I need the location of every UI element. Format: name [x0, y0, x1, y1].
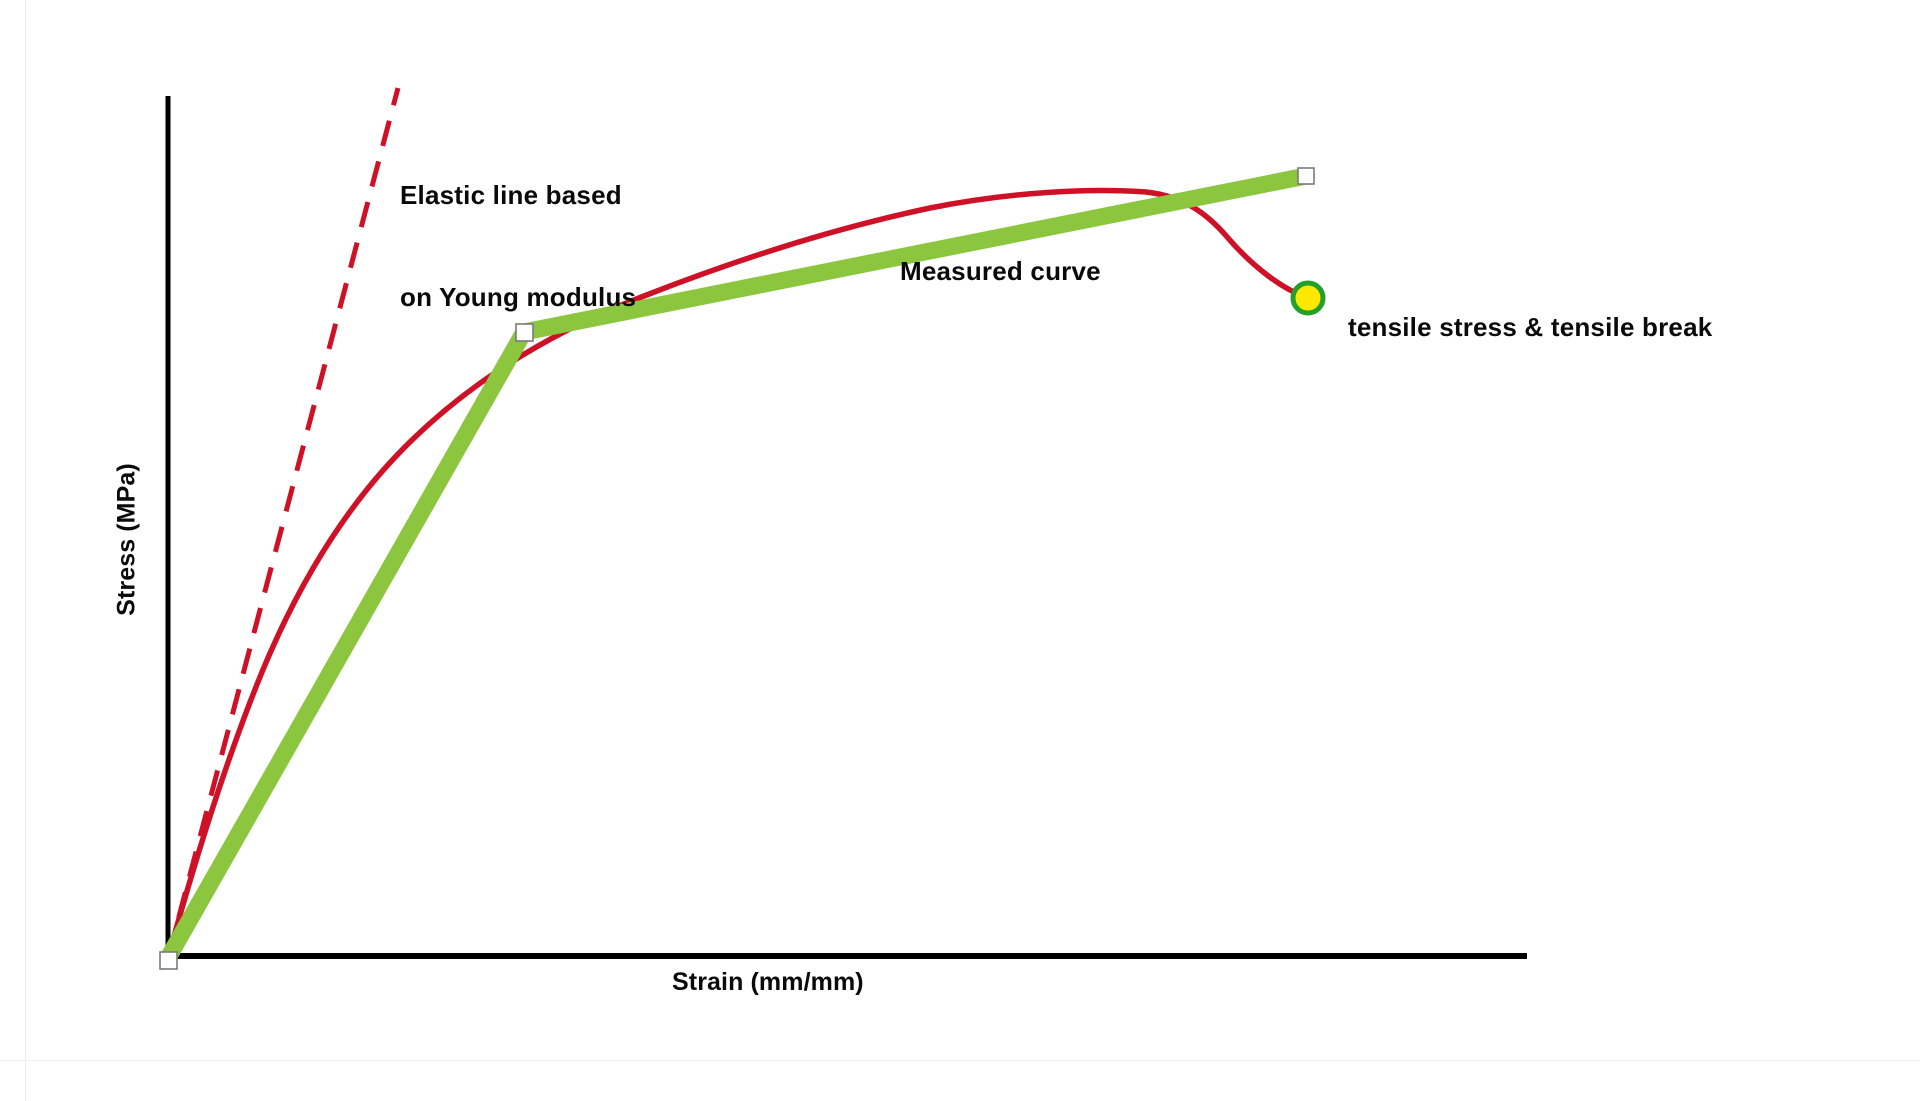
axes-group [166, 96, 1527, 958]
handle-green-end[interactable] [1298, 168, 1314, 184]
tensile-break-marker[interactable] [1293, 283, 1323, 313]
elastic-line-series [168, 88, 398, 958]
elastic-line-label: Elastic line based on Young modulus [400, 110, 636, 382]
tensile-break-label: tensile stress & tensile break [1348, 310, 1712, 344]
x-axis-label: Strain (mm/mm) [672, 968, 864, 997]
elastic-line-label-line1: Elastic line based [400, 178, 636, 212]
diagram-canvas: Stress (MPa) Strain (mm/mm) Elastic line… [0, 0, 1920, 1101]
stress-strain-plot [0, 0, 1920, 1101]
measured-curve-label: Measured curve [900, 254, 1101, 288]
tensile-break-marker-ring [1293, 283, 1323, 313]
handle-origin[interactable] [160, 952, 177, 969]
elastic-line-label-line2: on Young modulus [400, 280, 636, 314]
idealized-bilinear-series [168, 176, 1306, 958]
y-axis-label: Stress (MPa) [113, 410, 142, 670]
